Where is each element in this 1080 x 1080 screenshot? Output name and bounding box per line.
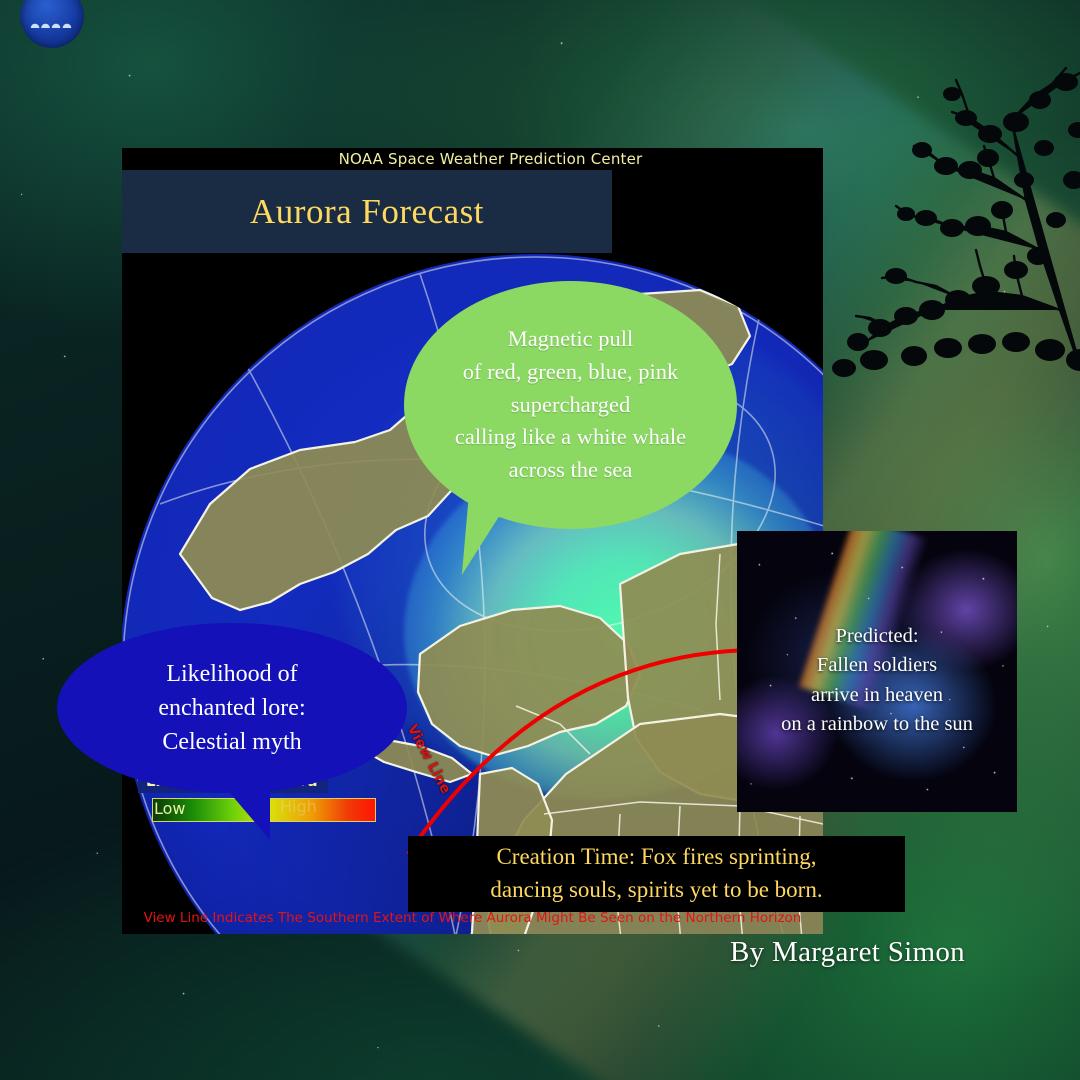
poem-line: arrive in heaven	[781, 681, 973, 710]
poem-line: Predicted:	[781, 622, 973, 651]
legend-high-label: High	[280, 797, 317, 816]
predicted-galaxy-card: Predicted: Fallen soldiers arrive in hea…	[737, 531, 1017, 812]
poem-line: calling like a white whale	[455, 421, 686, 454]
poem-line: Fallen soldiers	[781, 651, 973, 680]
author-byline: By Margaret Simon	[730, 936, 965, 969]
poem-line: Creation Time: Fox fires sprinting,	[490, 841, 822, 874]
poem-line: across the sea	[455, 454, 686, 487]
predicted-card-text: Predicted: Fallen soldiers arrive in hea…	[781, 604, 973, 738]
page-title: Aurora Forecast	[250, 192, 484, 232]
legend-low-label: Low	[154, 799, 186, 818]
aurora-forecast-title-card: Aurora Forecast	[122, 170, 612, 253]
poem-line: Likelihood of	[158, 657, 305, 691]
view-line-footnote: View Line Indicates The Southern Extent …	[122, 910, 823, 926]
creation-caption-text: Creation Time: Fox fires sprinting, danc…	[490, 841, 822, 906]
poem-line: Magnetic pull	[455, 323, 686, 356]
poem-line: supercharged	[455, 389, 686, 422]
poem-line: enchanted lore:	[158, 691, 305, 725]
poem-line: on a rainbow to the sun	[781, 710, 973, 739]
green-bubble-text: Magnetic pull of red, green, blue, pink …	[443, 323, 698, 486]
poster-canvas: NOAA Space Weather Prediction Center	[0, 0, 1080, 1080]
noaa-header-title: NOAA Space Weather Prediction Center	[122, 150, 823, 168]
poem-line: of red, green, blue, pink	[455, 356, 686, 389]
blue-speech-bubble: Likelihood of enchanted lore: Celestial …	[57, 623, 407, 793]
poem-line: dancing souls, spirits yet to be born.	[490, 874, 822, 907]
creation-time-caption: Creation Time: Fox fires sprinting, danc…	[408, 836, 905, 912]
noaa-gull-icon	[30, 18, 72, 28]
blue-bubble-text: Likelihood of enchanted lore: Celestial …	[158, 657, 305, 759]
poem-line: Celestial myth	[158, 725, 305, 759]
green-speech-bubble: Magnetic pull of red, green, blue, pink …	[404, 281, 737, 529]
